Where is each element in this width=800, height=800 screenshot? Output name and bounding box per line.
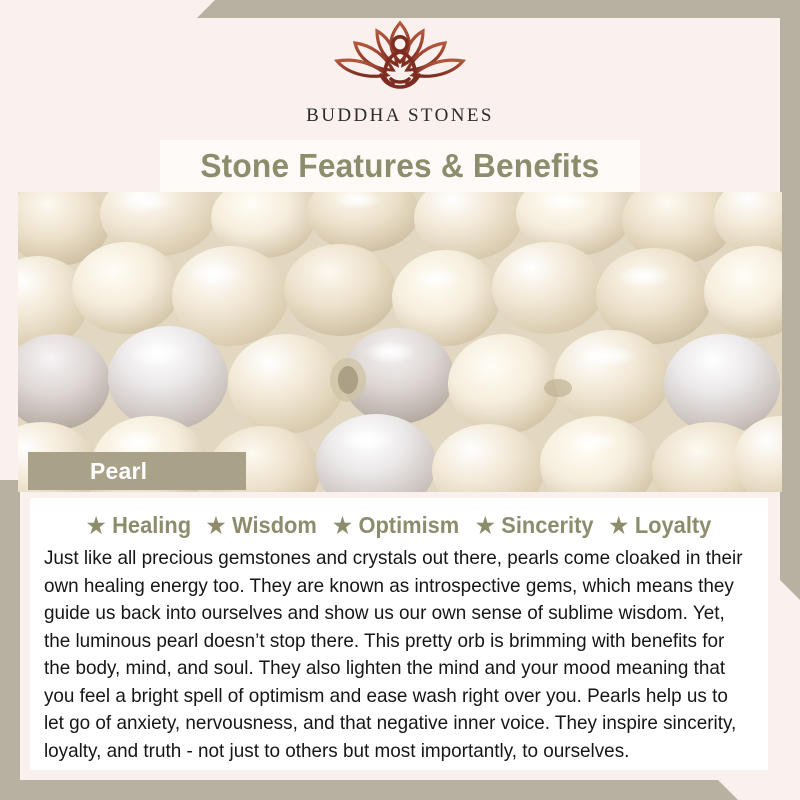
benefit-label: Wisdom (232, 512, 317, 539)
benefits-list: ★ Healing ★ Wisdom ★ Optimism ★ Sincerit… (40, 512, 758, 539)
section-title-banner: Stone Features & Benefits (160, 140, 640, 192)
benefit-item: ★ Sincerity (466, 512, 593, 539)
stone-name: Pearl (90, 458, 147, 485)
brand-name: BUDDHA STONES (306, 105, 494, 127)
frame-left-band (0, 480, 20, 800)
benefit-label: Optimism (358, 512, 459, 539)
benefit-item: ★ Optimism (323, 512, 459, 539)
benefit-label: Healing (112, 512, 191, 539)
infographic-page: BUDDHA STONES (0, 0, 800, 800)
benefit-item: ★ Wisdom (197, 512, 317, 539)
stone-description: Just like all precious gemstones and cry… (40, 545, 747, 765)
star-icon: ★ (333, 515, 352, 537)
page-title: Stone Features & Benefits (200, 147, 599, 185)
star-icon: ★ (609, 515, 628, 537)
pearl-photo (18, 192, 782, 492)
frame-bottom-band (0, 780, 800, 800)
lotus-meditation-figure-icon (325, 13, 475, 99)
benefit-item: ★ Healing (87, 512, 191, 539)
star-icon: ★ (476, 515, 495, 537)
brand-header: BUDDHA STONES (0, 0, 800, 140)
benefit-item: ★ Loyalty (600, 512, 711, 539)
benefit-label: Sincerity (501, 512, 593, 539)
star-icon: ★ (207, 515, 226, 537)
star-icon: ★ (87, 515, 106, 537)
stone-name-tag: Pearl (28, 452, 246, 490)
benefit-label: Loyalty (634, 512, 711, 539)
content-card: ★ Healing ★ Wisdom ★ Optimism ★ Sincerit… (30, 498, 768, 770)
